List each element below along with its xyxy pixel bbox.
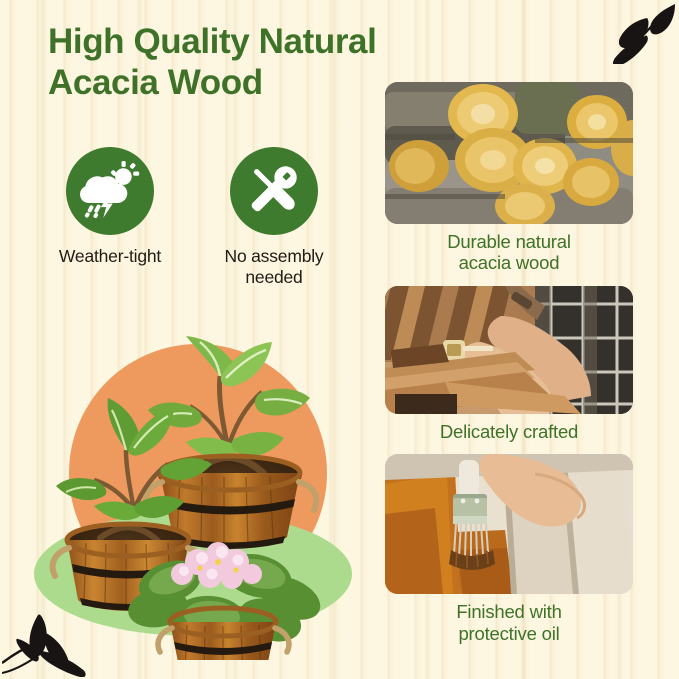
- caption-line-1: Durable natural: [385, 231, 633, 252]
- feature-icon-badge: [66, 147, 154, 235]
- feature-label-line-1: No assembly: [225, 246, 324, 267]
- leaf-sprig-bottom-left-icon: [2, 611, 88, 677]
- leaf-sprig-top-right-icon: [601, 2, 675, 64]
- feature-weather-tight: Weather-tight: [40, 147, 180, 287]
- weather-storm-icon: [80, 160, 140, 223]
- photo-card-list: Durable natural acacia wood: [385, 82, 633, 656]
- caption-line-1: Delicately crafted: [385, 421, 633, 442]
- caption-line-2: acacia wood: [385, 252, 633, 273]
- page-title-line-2: Acacia Wood: [48, 63, 408, 104]
- wrench-screwdriver-icon: [245, 160, 303, 223]
- brushing-protective-oil-photo: [385, 454, 633, 594]
- card-delicately-crafted: Delicately crafted: [385, 286, 633, 442]
- page-title: High Quality Natural Acacia Wood: [48, 22, 408, 103]
- photo-caption: Durable natural acacia wood: [385, 231, 633, 274]
- photo-caption: Finished with protective oil: [385, 601, 633, 644]
- feature-label: No assembly needed: [225, 246, 324, 287]
- card-durable-natural-acacia-wood: Durable natural acacia wood: [385, 82, 633, 274]
- caption-line-1: Finished with: [385, 601, 633, 622]
- feature-list: Weather-tight: [40, 147, 360, 287]
- feature-label-line-2: needed: [225, 267, 324, 288]
- product-infographic: High Quality Natural Acacia Wood: [0, 0, 679, 679]
- feature-no-assembly: No assembly needed: [204, 147, 344, 287]
- planter-back-right: [146, 336, 317, 549]
- stacked-logs-photo: [385, 82, 633, 224]
- card-finished-with-protective-oil: Finished with protective oil: [385, 454, 633, 644]
- page-title-line-1: High Quality Natural: [48, 22, 408, 63]
- photo-caption: Delicately crafted: [385, 421, 633, 442]
- craftsman-measuring-wood-photo: [385, 286, 633, 414]
- feature-icon-badge: [230, 147, 318, 235]
- caption-line-2: protective oil: [385, 623, 633, 644]
- feature-label: Weather-tight: [59, 246, 161, 267]
